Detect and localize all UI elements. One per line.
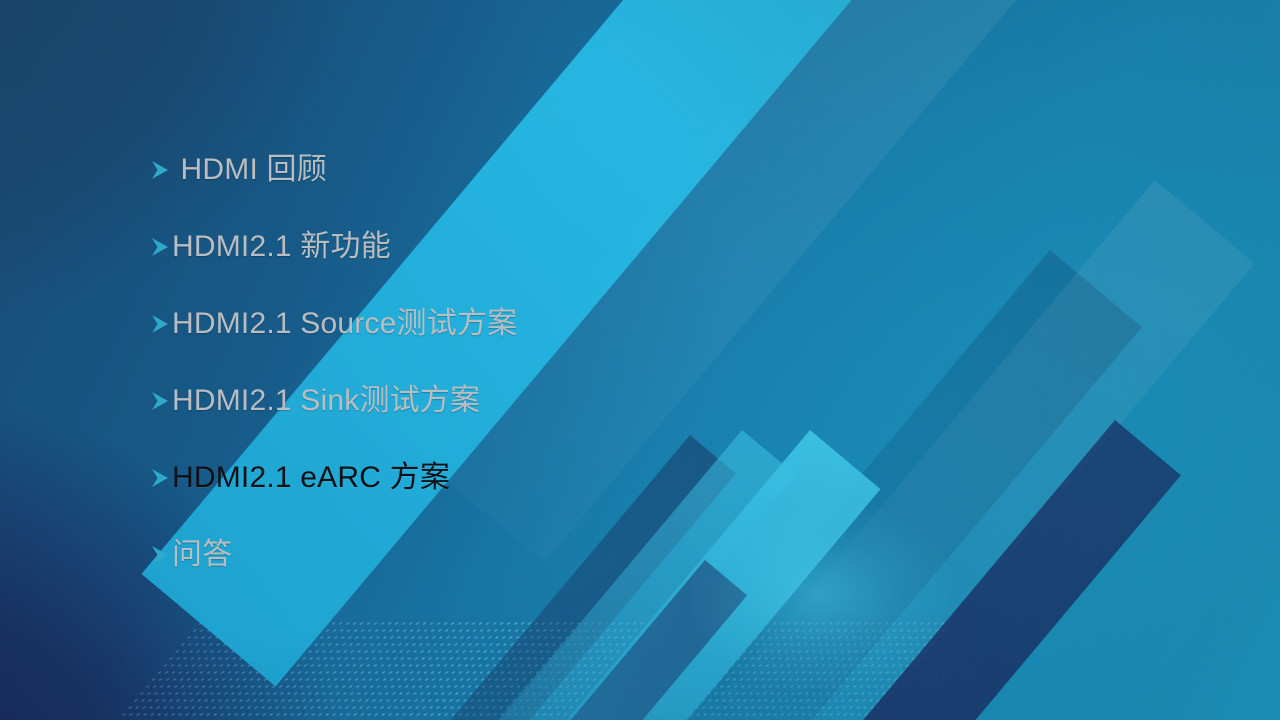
arrow-bullet-icon: [150, 157, 170, 183]
list-item[interactable]: HDMI2.1 Source测试方案: [150, 285, 850, 362]
arrow-bullet-icon: [150, 465, 170, 491]
list-item-label: HDMI2.1 新功能: [172, 232, 391, 262]
list-item[interactable]: HDMI 回顾: [150, 131, 850, 208]
arrow-bullet-icon: [150, 542, 170, 568]
list-item[interactable]: HDMI2.1 Sink测试方案: [150, 362, 850, 439]
slide-canvas: HDMI 回顾 HDMI2.1 新功能 HDMI2.1 Source测试方案 H…: [0, 0, 1280, 720]
list-item-label: HDMI2.1 Sink测试方案: [172, 386, 480, 416]
list-item-label: HDMI2.1 Source测试方案: [172, 309, 517, 339]
list-item[interactable]: HDMI2.1 新功能: [150, 208, 850, 285]
list-item[interactable]: 问答: [150, 516, 850, 593]
arrow-bullet-icon: [150, 311, 170, 337]
list-item-label: HDMI 回顾: [172, 155, 327, 185]
list-item-label: 问答: [172, 540, 232, 570]
arrow-bullet-icon: [150, 234, 170, 260]
list-item-active[interactable]: HDMI2.1 eARC 方案: [150, 439, 850, 516]
list-item-label: HDMI2.1 eARC 方案: [172, 463, 450, 493]
arrow-bullet-icon: [150, 388, 170, 414]
agenda-list: HDMI 回顾 HDMI2.1 新功能 HDMI2.1 Source测试方案 H…: [150, 131, 850, 593]
